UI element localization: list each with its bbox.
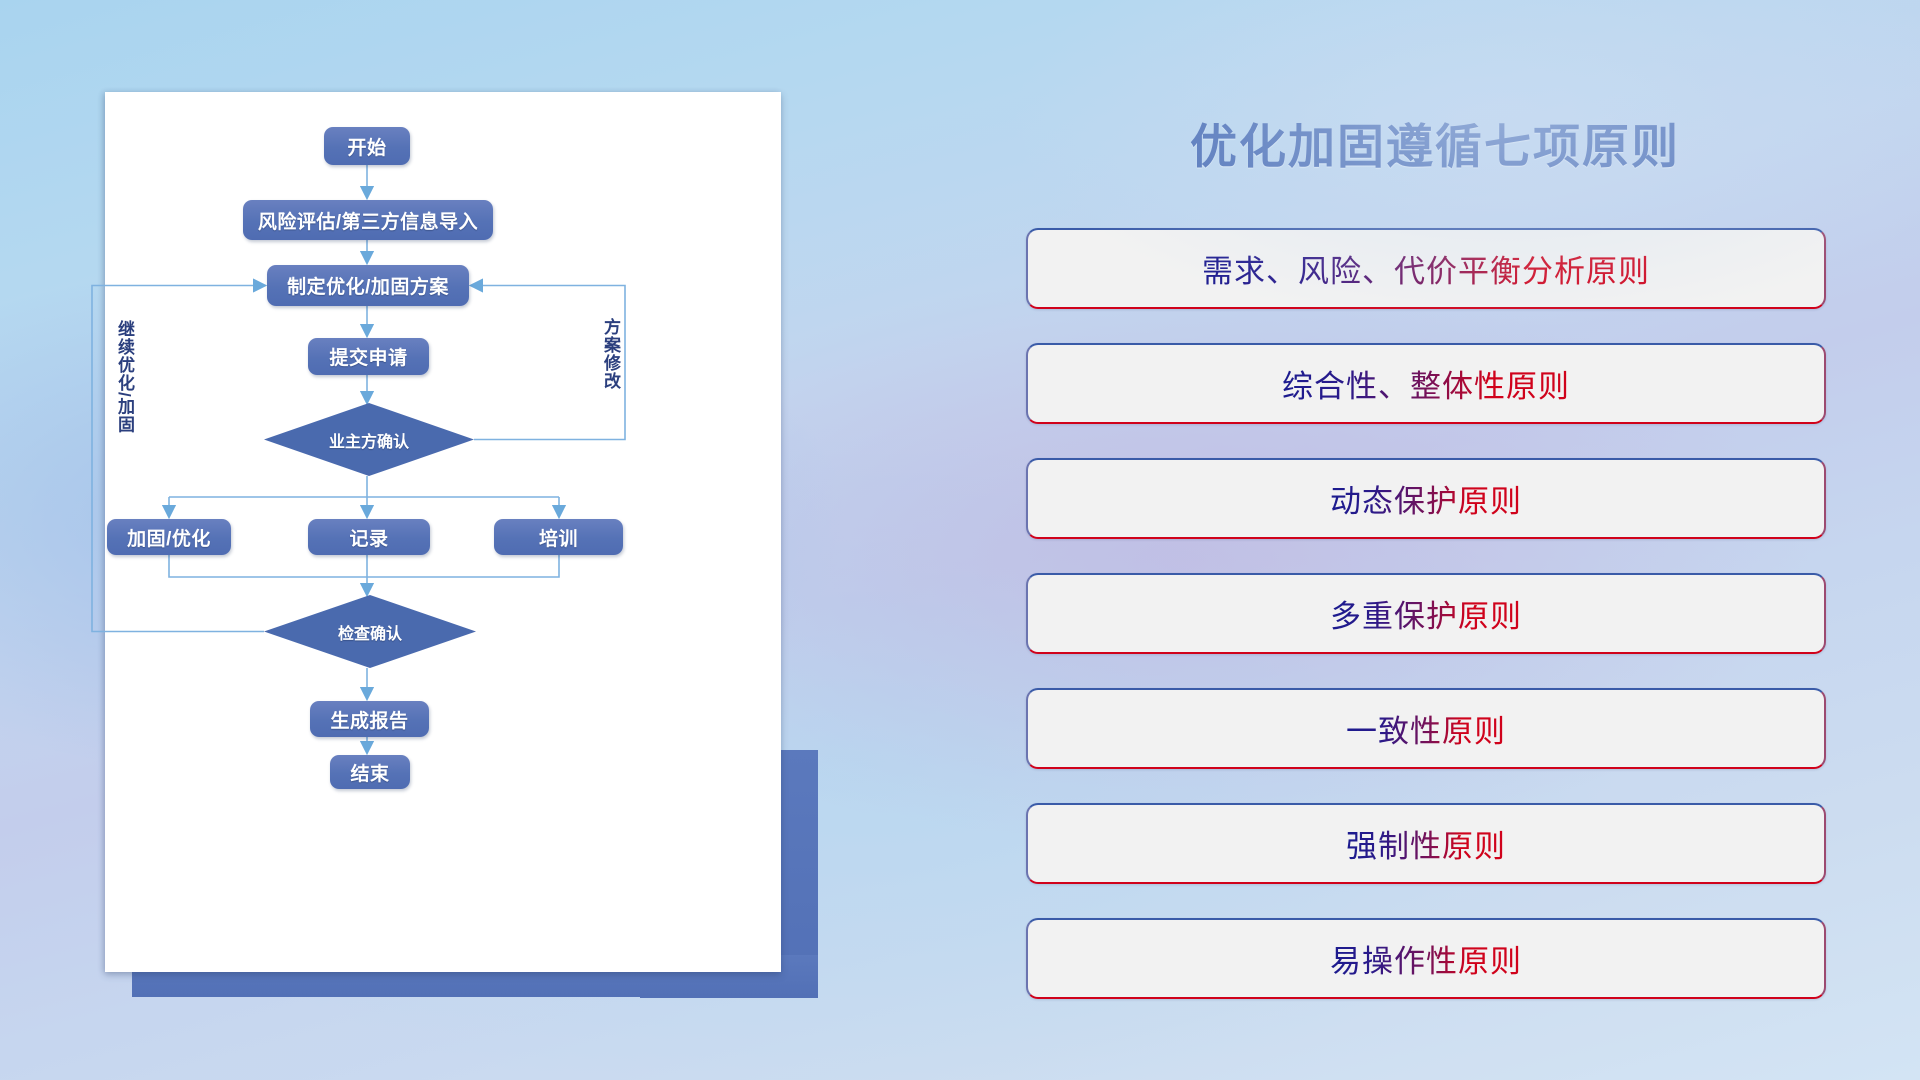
principle-card-3[interactable]: 动态保护原则 [1026,458,1826,539]
principle-card-7-label: 易操作性原则 [1330,936,1522,981]
principle-card-2-label: 综合性、整体性原则 [1282,361,1570,406]
principle-card-1-label: 需求、风险、代价平衡分析原则 [1202,246,1650,291]
principle-card-5-label: 一致性原则 [1346,706,1506,751]
flow-edge-label-plan-revision: 方案修改 [598,318,623,390]
panel-title: 优化加固遵循七项原则 [1020,108,1850,177]
principle-card-5[interactable]: 一致性原则 [1026,688,1826,769]
flow-node-submit-application[interactable]: 提交申请 [308,338,429,375]
principle-card-1[interactable]: 需求、风险、代价平衡分析原则 [1026,228,1826,309]
flow-node-generate-report[interactable]: 生成报告 [310,701,429,737]
flow-node-make-plan[interactable]: 制定优化/加固方案 [267,265,469,306]
principle-card-3-label: 动态保护原则 [1330,476,1522,521]
principle-card-4[interactable]: 多重保护原则 [1026,573,1826,654]
flow-edge-label-continue-optimization: 继续优化/加固 [112,320,137,434]
principles-list: 需求、风险、代价平衡分析原则 综合性、整体性原则 动态保护原则 多重保护原则 一… [1026,228,1826,1033]
flow-node-risk-assessment[interactable]: 风险评估/第三方信息导入 [243,200,493,240]
principle-card-7[interactable]: 易操作性原则 [1026,918,1826,999]
slide-canvas: 开始 风险评估/第三方信息导入 制定优化/加固方案 提交申请 业主方确认 加固/… [0,0,1920,1080]
principles-panel: 优化加固遵循七项原则 需求、风险、代价平衡分析原则 综合性、整体性原则 动态保护… [1020,0,1850,1080]
principle-card-4-label: 多重保护原则 [1330,591,1522,636]
principle-card-2[interactable]: 综合性、整体性原则 [1026,343,1826,424]
principle-card-6[interactable]: 强制性原则 [1026,803,1826,884]
flow-node-reinforce-optimize[interactable]: 加固/优化 [107,519,231,555]
flow-node-training[interactable]: 培训 [494,519,623,555]
flow-node-record[interactable]: 记录 [308,519,430,555]
flow-node-end[interactable]: 结束 [330,755,410,789]
principle-card-6-label: 强制性原则 [1346,821,1506,866]
flowchart-region: 开始 风险评估/第三方信息导入 制定优化/加固方案 提交申请 业主方确认 加固/… [0,0,830,1080]
flow-node-start[interactable]: 开始 [324,127,410,165]
